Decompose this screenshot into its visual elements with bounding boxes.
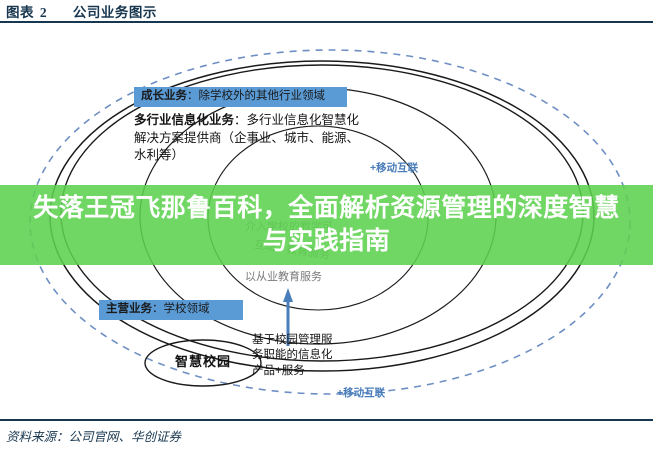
figure-label: 图表 [6,5,34,20]
overlay-banner-text: 失落王冠飞那鲁百科，全面解析资源管理的深度智慧与实践指南 [27,192,627,258]
overlay-banner: 失落王冠飞那鲁百科，全面解析资源管理的深度智慧与实践指南 [0,185,653,265]
growth-business-body: 多行业信息化业务：多行业信息化智慧化解决方案提供商（企事业、城市、能源、水利等） [134,112,362,165]
footer-divider [0,419,653,421]
growth-business-tag: 成长业务：除学校外的其他行业领域 [134,87,347,107]
main-business-tag: 主营业务：学校领域 [99,300,243,320]
growth-business-block: 成长业务：除学校外的其他行业领域 多行业信息化业务：多行业信息化智慧化解决方案提… [134,87,372,165]
growth-mobile-internet-tag: +移动互联 [370,160,418,175]
growth-body-bold: 多行业信息化业务 [134,113,234,127]
figure-footer: 资料来源：公司官网、华创证券 [0,419,653,453]
smart-campus-label: 智慧校园 [163,351,243,370]
main-tag-bold: 主营业务 [106,303,152,315]
figure-header: 图表 2 公司业务图示 [0,0,653,26]
figure-page: 图表 2 公司业务图示 介入学校的 [0,0,653,453]
page-title: 图表 2 公司业务图示 [6,1,157,21]
main-tag-rest: ：学校领域 [152,303,210,315]
background-label-2: 以从业教育服务 [245,268,322,284]
figure-number: 2 [40,5,47,20]
growth-tag-bold: 成长业务 [141,90,187,102]
figure-title-text: 公司业务图示 [73,5,157,20]
smart-campus-description: 基于校园管理服务职能的信息化产品+服务 [252,333,342,379]
main-mobile-internet-tag: +移动互联 [337,385,385,400]
header-divider [0,21,653,23]
growth-tag-rest: ：除学校外的其他行业领域 [187,90,325,102]
source-note: 资料来源：公司官网、华创证券 [6,426,181,445]
